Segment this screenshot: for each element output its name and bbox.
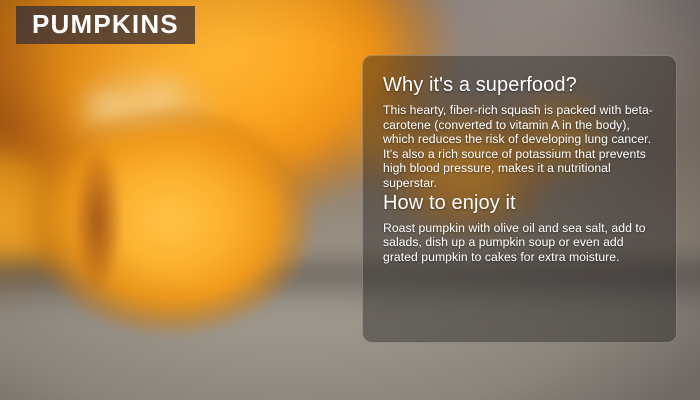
section-body-enjoy: Roast pumpkin with olive oil and sea sal…: [383, 221, 656, 265]
section-body-superfood: This hearty, fiber-rich squash is packed…: [383, 103, 656, 191]
section-heading-superfood: Why it's a superfood?: [383, 73, 656, 97]
info-panel: Why it's a superfood? This hearty, fiber…: [362, 55, 677, 343]
infographic-root: PUMPKINS Why it's a superfood? This hear…: [0, 0, 700, 400]
page-title: PUMPKINS: [16, 6, 195, 44]
section-heading-enjoy: How to enjoy it: [383, 191, 656, 215]
